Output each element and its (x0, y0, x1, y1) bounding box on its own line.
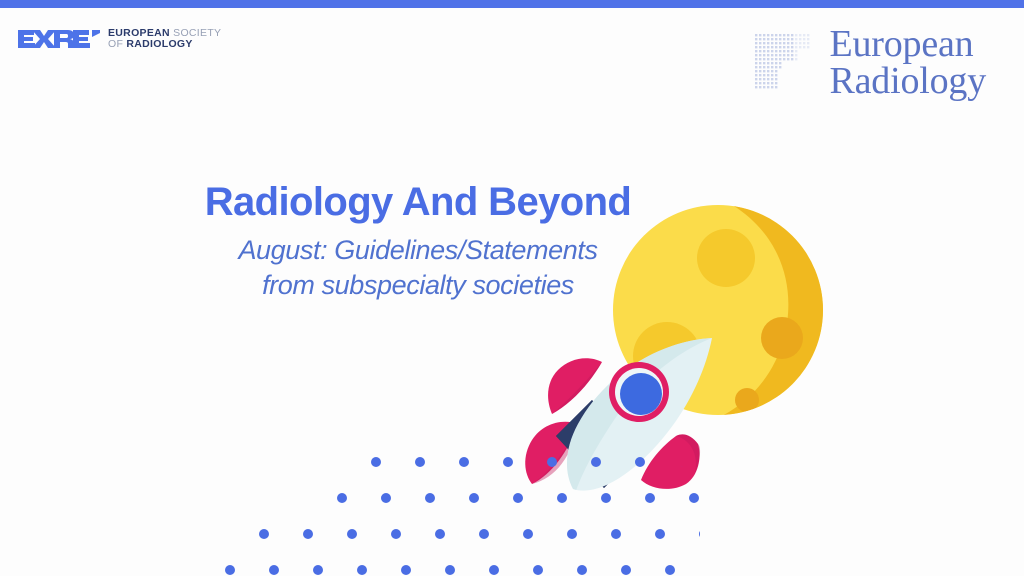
trail-dot (527, 385, 537, 395)
trail-dot (371, 457, 381, 467)
esr-word-european: EUROPEAN (108, 27, 170, 39)
rocket-graphic (525, 330, 712, 500)
rocket-window (609, 362, 669, 422)
trail-dot (425, 493, 435, 503)
trail-dot (313, 565, 323, 575)
trail-dot (337, 493, 347, 503)
trail-dot (503, 457, 513, 467)
trail-dot (557, 493, 567, 503)
trail-dot (665, 565, 675, 575)
esr-word-society: SOCIETY (173, 27, 221, 39)
trail-dot (577, 565, 587, 575)
trail-dot (523, 529, 533, 539)
trail-dot (591, 457, 601, 467)
trail-dot (611, 529, 621, 539)
trail-dot (259, 529, 269, 539)
esr-logo: EUROPEAN SOCIETY OF RADIOLOGY (18, 28, 221, 51)
trail-dot (699, 529, 709, 539)
trail-dot (459, 457, 469, 467)
trail-dot (645, 493, 655, 503)
trail-dot (635, 457, 645, 467)
trail-dot (449, 421, 459, 431)
trail-dot (415, 457, 425, 467)
trail-dot (655, 529, 665, 539)
moon-crater (761, 317, 803, 359)
trail-dot (561, 349, 571, 359)
moon-crater (735, 388, 759, 412)
trail-dot (595, 313, 605, 323)
slide-canvas: EUROPEAN SOCIETY OF RADIOLOGY European R… (0, 0, 1024, 576)
european-radiology-wordmark: European Radiology (829, 26, 986, 100)
trail-dot (567, 529, 577, 539)
trail-dot (689, 493, 699, 503)
trail-dot (493, 421, 503, 431)
esr-wordmark-line-2: OF RADIOLOGY (108, 39, 221, 50)
trail-dot (435, 529, 445, 539)
trail-dot (469, 493, 479, 503)
trail-dot (483, 385, 493, 395)
trail-dot (225, 565, 235, 575)
er-word-radiology: Radiology (829, 63, 986, 100)
trail-dot (547, 457, 557, 467)
trail-dot (621, 565, 631, 575)
esr-wordmark: EUROPEAN SOCIETY OF RADIOLOGY (108, 28, 221, 51)
trail-dot (401, 565, 411, 575)
trail-dot (489, 565, 499, 575)
trail-dot (605, 349, 615, 359)
trail-dot (601, 493, 611, 503)
esr-monogram-mark (18, 28, 100, 50)
european-radiology-logo: European Radiology (753, 26, 986, 100)
trail-dot (513, 493, 523, 503)
trail-dot (479, 529, 489, 539)
trail-dot (357, 565, 367, 575)
er-word-european: European (829, 26, 986, 63)
halftone-e-mark (753, 32, 815, 94)
trail-dot (381, 493, 391, 503)
trail-dot (347, 529, 357, 539)
trail-dot (303, 529, 313, 539)
trail-dot (445, 565, 455, 575)
esr-word-radiology: RADIOLOGY (126, 38, 192, 50)
esr-word-of: OF (108, 38, 123, 50)
trail-dot (269, 565, 279, 575)
moon-crater (697, 229, 755, 287)
trail-dot (391, 529, 401, 539)
trail-dot (533, 565, 543, 575)
